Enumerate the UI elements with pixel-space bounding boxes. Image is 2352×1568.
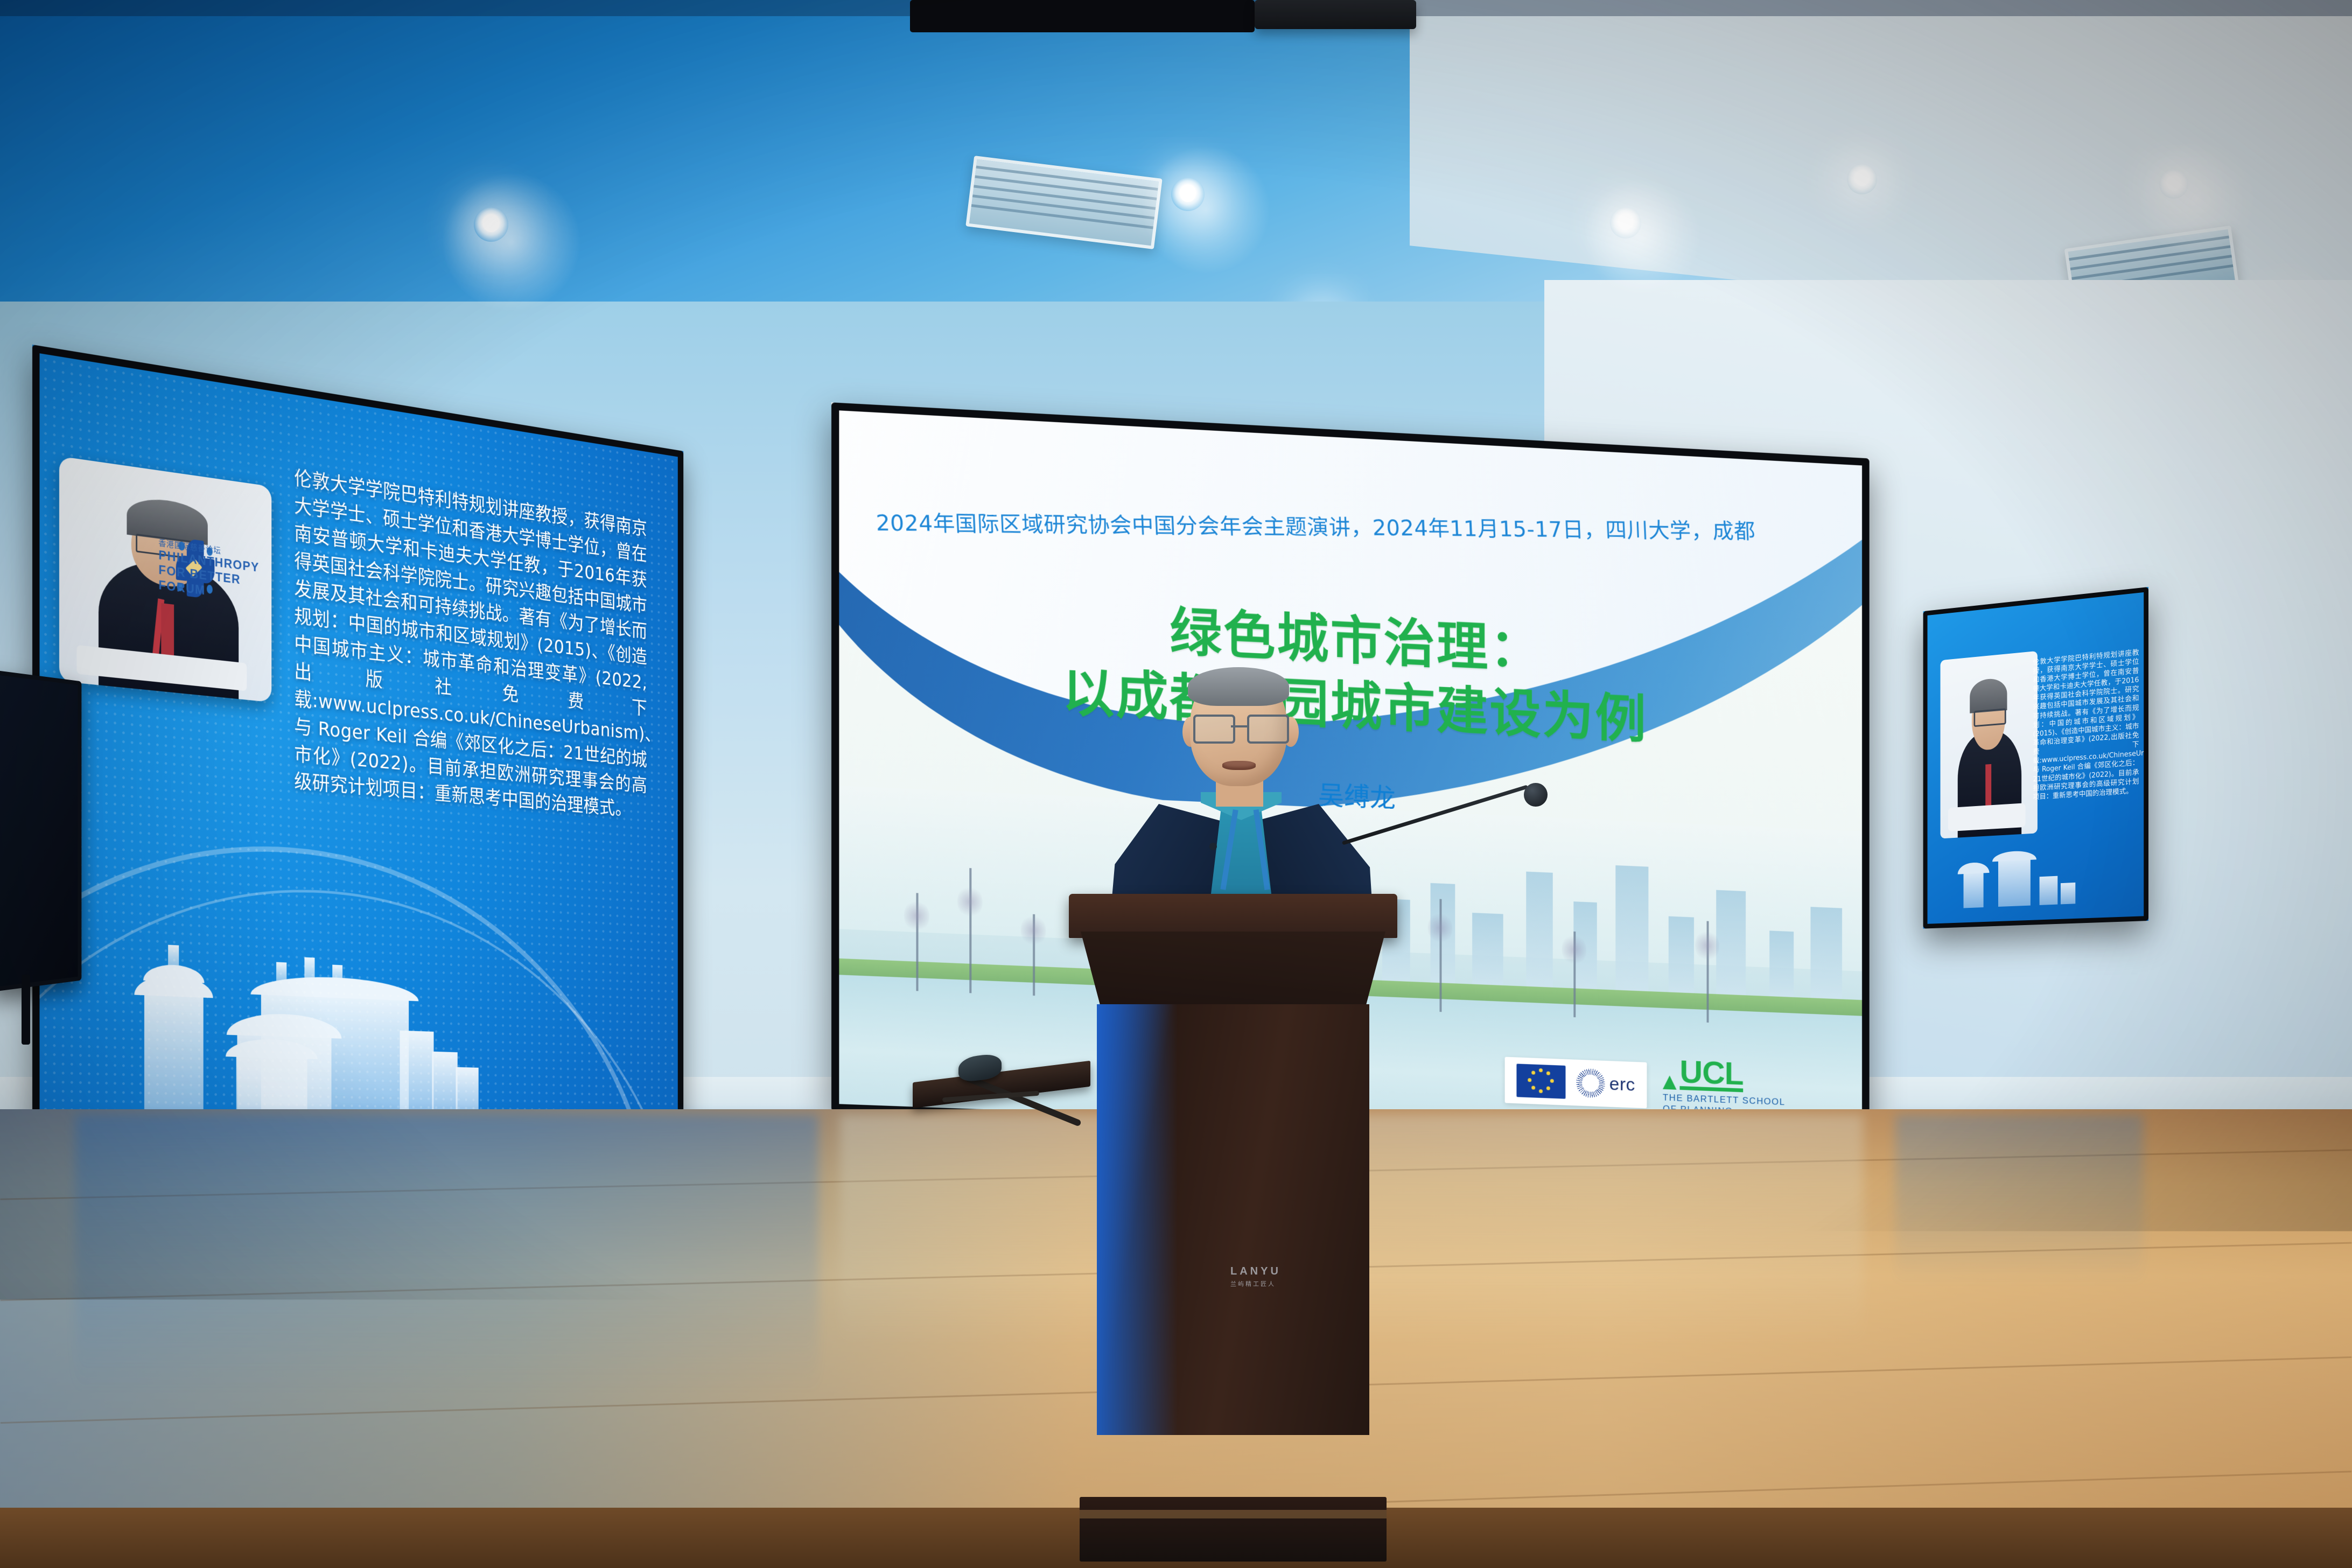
ceiling-downlight xyxy=(474,207,508,242)
ceiling-speaker-box xyxy=(1255,0,1416,29)
speaker-glasses-icon xyxy=(1193,715,1285,739)
podium-brand-mark: LANYU 兰屿精工匠人 xyxy=(1230,1265,1281,1288)
left-screen-floor-reflection xyxy=(75,1115,818,1395)
speaker-mouth xyxy=(1222,761,1256,770)
eu-erc-logo-block: erc xyxy=(1505,1057,1647,1109)
right-portrait-chair-rail xyxy=(1948,803,2026,831)
lectern-podium: LANYU 兰屿精工匠人 xyxy=(1069,894,1397,1562)
ucl-triangle-icon xyxy=(1663,1075,1677,1090)
bio-text: 伦敦大学学院巴特利特规划讲座教授，获得南京大学学士、硕士学位和香港大学博士学位，… xyxy=(294,464,647,824)
podium-slope xyxy=(1081,932,1385,1012)
ceiling-black-panel xyxy=(910,0,1255,32)
ucl-wordmark: UCL xyxy=(1679,1058,1743,1092)
erc-wordmark: erc xyxy=(1609,1074,1635,1096)
speaker-portrait: 香港国际慈善论坛 PHILANTHROPY FOR BETTER FORUM xyxy=(59,456,271,702)
podium-top-surface xyxy=(1069,894,1397,938)
right-portrait-tie xyxy=(1985,764,1991,811)
right-bio-text: 伦敦大学学院巴特利特规划讲座教授，获得南京大学学士、硕士学位和香港大学博士学位，… xyxy=(2033,648,2139,802)
right-skyline-silhouette xyxy=(1949,850,2097,909)
podium-blue-light-wash xyxy=(1097,1004,1178,1435)
microphone-head-icon xyxy=(1524,783,1548,807)
podium-base-highlight xyxy=(1080,1510,1387,1518)
right-speaker-portrait xyxy=(1941,651,2038,839)
confidence-monitor[interactable] xyxy=(0,670,81,992)
eu-flag-icon xyxy=(1517,1064,1566,1099)
conference-hall-photo: 香港国际慈善论坛 PHILANTHROPY FOR BETTER FORUM 伦… xyxy=(0,0,2352,1568)
right-screen-floor-reflection xyxy=(1895,1115,2143,1287)
philanthropy-forum-logo: 香港国际慈善论坛 PHILANTHROPY FOR BETTER FORUM xyxy=(176,530,260,632)
ceiling-downlight xyxy=(1610,207,1641,239)
lapel-mic-icon xyxy=(1209,843,1217,850)
erc-logo: erc xyxy=(1577,1068,1635,1100)
erc-ring-icon xyxy=(1577,1068,1605,1098)
podium-brand-subtitle: 兰屿精工匠人 xyxy=(1230,1279,1281,1288)
right-portrait-glasses-icon xyxy=(1974,709,2006,727)
right-portrait-hair xyxy=(1970,677,2007,713)
podium-brand-name: LANYU xyxy=(1230,1265,1281,1277)
monitor-cable xyxy=(22,975,30,1045)
ceiling-downlight xyxy=(1171,178,1205,211)
ceiling-downlight xyxy=(1847,164,1877,194)
skyline-silhouette xyxy=(114,962,479,1122)
portrait-tie xyxy=(161,603,174,662)
podium-base xyxy=(1080,1497,1387,1562)
ceiling-downlight xyxy=(2159,170,2188,199)
ceiling-vent xyxy=(965,156,1162,249)
speaker-hair xyxy=(1188,667,1289,706)
right-display-screen[interactable]: 伦敦大学学院巴特利特规划讲座教授，获得南京大学学士、硕士学位和香港大学博士学位，… xyxy=(1923,587,2148,929)
